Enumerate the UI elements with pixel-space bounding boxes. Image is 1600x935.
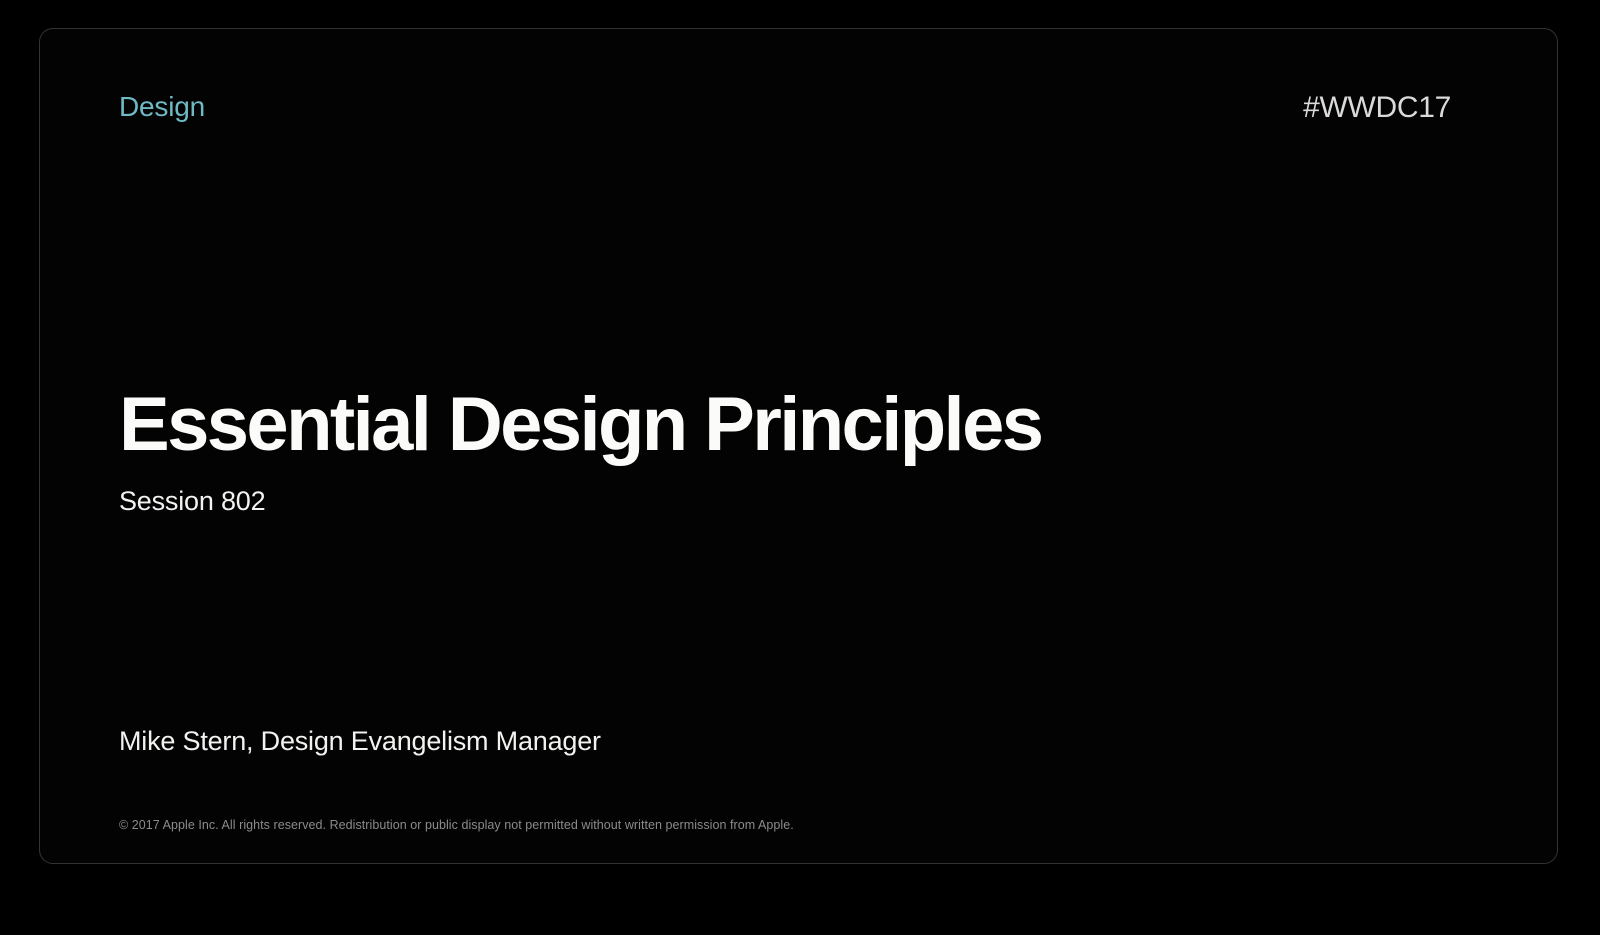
track-label: Design: [119, 91, 205, 123]
session-number: Session 802: [119, 463, 1439, 517]
title-block: Essential Design Principles Session 802: [119, 387, 1439, 517]
title-slide: Design #WWDC17 Essential Design Principl…: [39, 28, 1558, 864]
slide-header: Design #WWDC17: [40, 29, 1557, 149]
event-hashtag: #WWDC17: [1303, 91, 1451, 125]
presentation-stage: Design #WWDC17 Essential Design Principl…: [0, 0, 1600, 935]
legal-footer: © 2017 Apple Inc. All rights reserved. R…: [119, 818, 794, 832]
slide-title: Essential Design Principles: [119, 387, 1439, 463]
presenter-credit: Mike Stern, Design Evangelism Manager: [119, 726, 601, 757]
